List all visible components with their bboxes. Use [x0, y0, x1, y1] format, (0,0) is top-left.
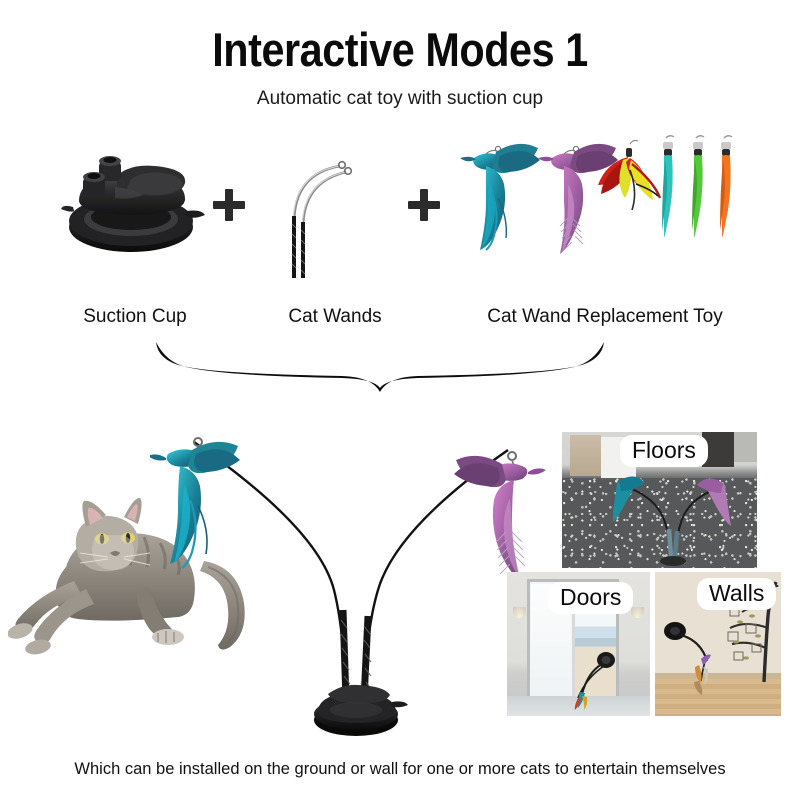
wall-sconce-left [513, 607, 526, 619]
feather-toy-icon [452, 132, 752, 282]
purple-bird [538, 144, 618, 254]
page-title: Interactive Modes 1 [48, 22, 752, 77]
slim-feather-refill-orange [720, 136, 732, 238]
part-label-cat-wands: Cat Wands [245, 306, 425, 328]
floor-cabinet-left [570, 435, 601, 476]
curly-brace-down-icon [150, 340, 610, 400]
cat-wand-icon [278, 138, 388, 278]
badge-walls: Walls [697, 578, 776, 610]
suction-cup-icon [55, 135, 235, 260]
badge-doors: Doors [548, 582, 633, 614]
usage-photo-doors[interactable]: Doors [507, 572, 650, 716]
floor-wall-right [734, 432, 757, 462]
page-subtitle: Automatic cat toy with suction cup [0, 88, 800, 110]
slim-feather-refill-green [692, 136, 704, 238]
bottom-caption: Which can be installed on the ground or … [0, 760, 800, 779]
usage-photo-walls[interactable]: Walls [655, 572, 781, 716]
badge-floors: Floors [620, 435, 708, 467]
part-label-replacement-toy: Cat Wand Replacement Toy [430, 306, 780, 328]
part-label-suction-cup: Suction Cup [20, 306, 250, 328]
floor-product [613, 473, 733, 568]
plus-icon-2 [408, 189, 440, 221]
product-infographic: Interactive Modes 1 Automatic cat toy wi… [0, 0, 800, 800]
teal-bird [460, 144, 540, 250]
slim-feather-refill-teal [662, 136, 674, 238]
wall-mounted-product [663, 621, 723, 697]
plus-icon-1 [213, 189, 245, 221]
door-mounted-product [564, 650, 624, 712]
usage-photo-floors[interactable]: Floors [562, 432, 757, 568]
